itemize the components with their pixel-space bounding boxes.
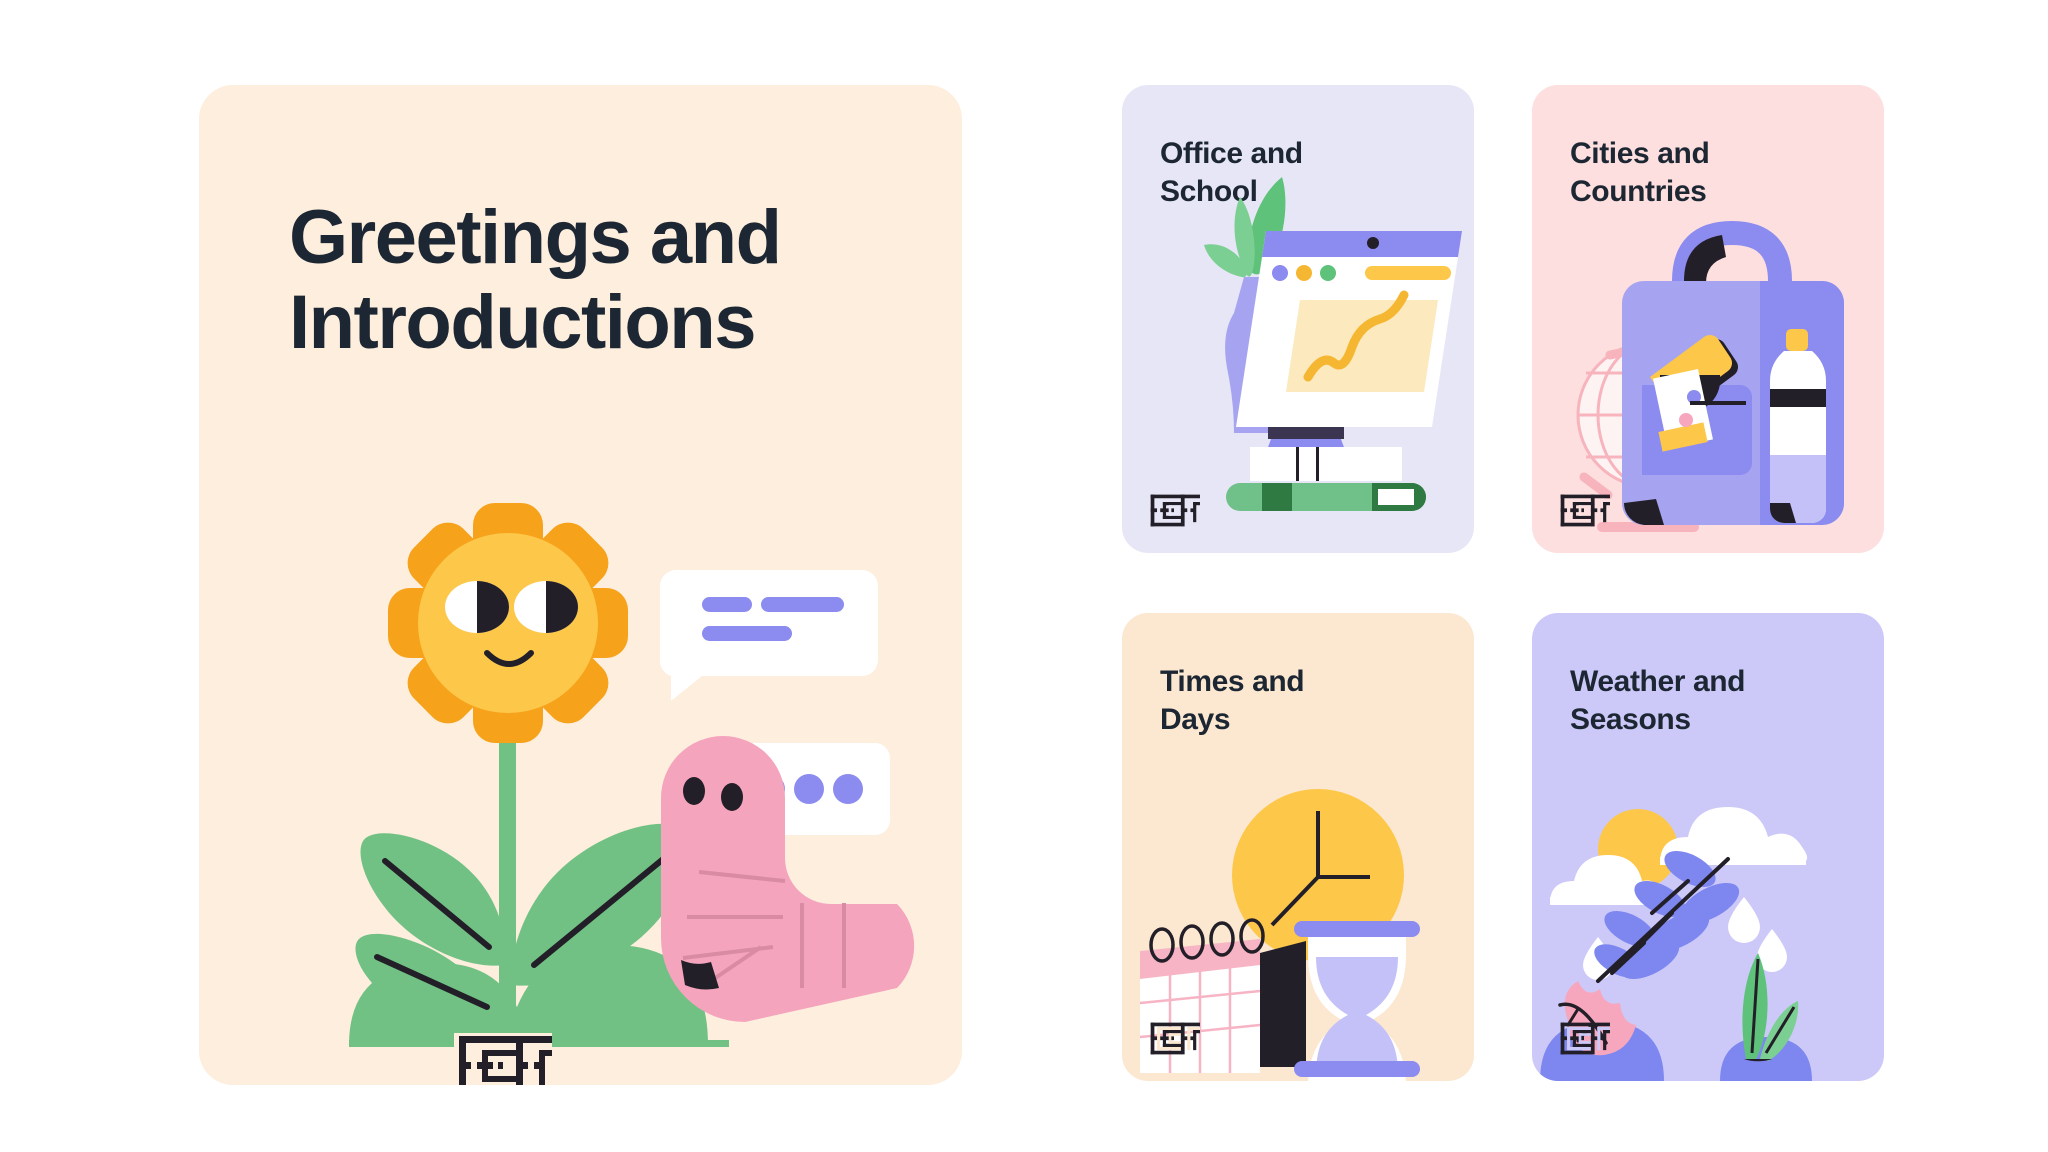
card-weather-and-seasons[interactable]: Weather and Seasons — [1532, 613, 1884, 1081]
flower-stem — [499, 645, 516, 1045]
cloud-large-icon — [1660, 807, 1807, 865]
ef-logo-icon — [1558, 493, 1610, 528]
card-times-and-days[interactable]: Times and Days — [1122, 613, 1474, 1081]
raindrops-icon — [1583, 897, 1787, 980]
ef-logo-icon — [454, 1033, 552, 1085]
card-cities-and-countries[interactable]: Cities and Countries — [1532, 85, 1884, 553]
pink-worm — [661, 736, 916, 1022]
leaf-lower-left — [355, 934, 501, 1018]
backpack-icon — [1622, 233, 1844, 525]
ef-logo-icon — [1558, 1021, 1610, 1056]
flower-petals — [388, 503, 628, 743]
ef-logo-icon — [1148, 493, 1200, 528]
sun-icon — [1598, 809, 1678, 889]
hero-card-greetings-and-introductions[interactable]: Greetings and Introductions — [199, 85, 962, 1085]
notebook-in-pocket-icon — [1650, 335, 1746, 452]
speech-bubble-text-icon — [660, 570, 878, 701]
card-title-cities-and-countries: Cities and Countries — [1570, 135, 1850, 210]
potted-plant-icon — [1204, 177, 1287, 433]
page-canvas: Greetings and Introductions — [0, 0, 2048, 1152]
leaf-left — [360, 833, 505, 965]
green-hill-shape — [349, 945, 729, 1047]
stacked-books-icon — [1226, 447, 1426, 511]
speech-bubble-dots-icon — [713, 743, 890, 856]
card-title-weather-and-seasons: Weather and Seasons — [1570, 663, 1850, 738]
leaf-right — [511, 824, 693, 986]
water-bottle-icon — [1770, 329, 1826, 523]
computer-monitor-icon — [1236, 231, 1462, 469]
ef-logo-icon — [1148, 1021, 1200, 1056]
hero-title: Greetings and Introductions — [289, 195, 909, 365]
card-office-and-school[interactable]: Office and School — [1122, 85, 1474, 553]
hourglass-icon — [1294, 921, 1420, 1081]
card-title-times-and-days: Times and Days — [1160, 663, 1440, 738]
flower-face — [418, 533, 598, 713]
card-title-office-and-school: Office and School — [1160, 135, 1440, 210]
clock-icon — [1232, 789, 1404, 961]
green-sprout-icon — [1742, 953, 1798, 1061]
cloud-small-icon — [1550, 855, 1666, 905]
fern-branch-icon — [1589, 843, 1745, 987]
